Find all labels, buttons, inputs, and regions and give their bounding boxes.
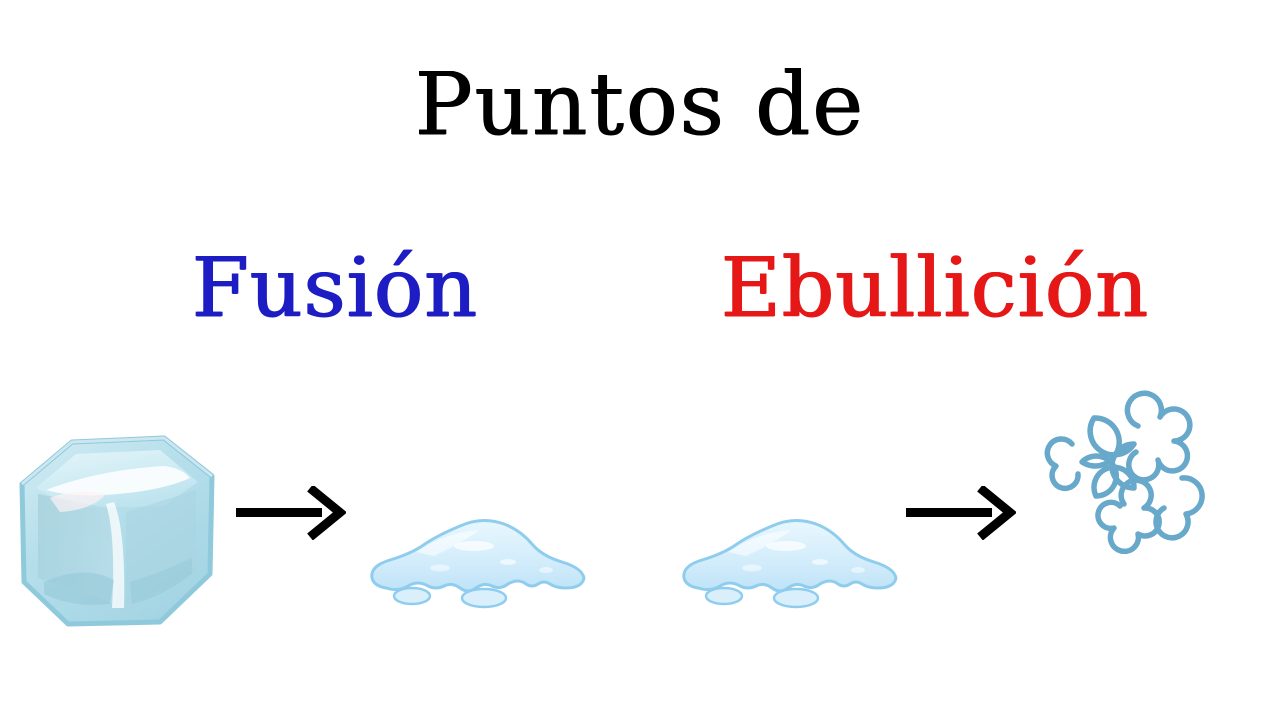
arrow-right-icon-boiling	[906, 486, 1016, 540]
steam-cloud-icon	[1032, 382, 1214, 554]
water-puddle-icon-1	[356, 506, 596, 610]
label-melting-point: Fusión	[150, 248, 520, 330]
page-title: Puntos de	[0, 62, 1280, 148]
ice-cube-icon	[14, 432, 220, 632]
water-puddle-icon-2	[668, 506, 908, 610]
slide-canvas: Puntos de Fusión Ebullición	[0, 0, 1280, 720]
arrow-right-icon-melting	[236, 486, 346, 540]
label-boiling-point: Ebullición	[680, 248, 1190, 330]
